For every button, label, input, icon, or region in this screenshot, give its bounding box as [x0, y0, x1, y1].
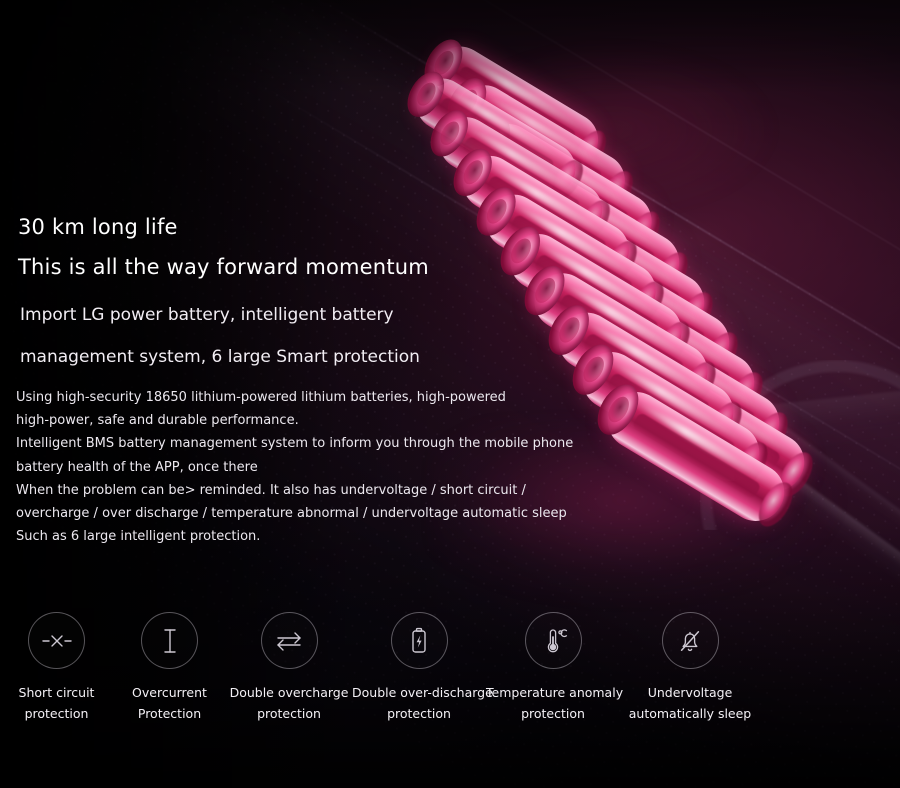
feature-label-line2: protection	[486, 703, 620, 724]
feature-label-line2: protection	[352, 703, 486, 724]
feature-short-circuit: Short circuit protection	[0, 612, 113, 724]
headline-secondary: This is all the way forward momentum	[18, 255, 429, 279]
body-line: high-power, safe and durable performance…	[16, 409, 573, 432]
current-ibeam-icon	[141, 612, 198, 669]
feature-label-line1: Short circuit	[0, 682, 113, 703]
feature-label-line2: Protection	[113, 703, 226, 724]
feature-temperature-anomaly: Temperature anomaly protection	[486, 612, 620, 724]
body-line: Using high-security 18650 lithium-powere…	[16, 386, 573, 409]
feature-double-over-discharge: Double over-discharge protection	[352, 612, 486, 724]
feature-undervoltage-sleep: Undervoltage automatically sleep	[620, 612, 760, 724]
body-line: Such as 6 large intelligent protection.	[16, 525, 573, 548]
body-line: When the problem can be> reminded. It al…	[16, 479, 573, 502]
subheadline: Import LG power battery, intelligent bat…	[20, 294, 420, 378]
feature-label-line1: Double overcharge	[226, 682, 352, 703]
body-line: battery health of the APP, once there	[16, 456, 573, 479]
bell-slash-icon	[662, 612, 719, 669]
body-copy: Using high-security 18650 lithium-powere…	[16, 386, 573, 548]
feature-double-overcharge: Double overcharge protection	[226, 612, 352, 724]
battery-bolt-icon	[391, 612, 448, 669]
headline-primary: 30 km long life	[18, 215, 178, 239]
bidirectional-arrows-icon	[261, 612, 318, 669]
feature-label-line2: protection	[226, 703, 352, 724]
feature-label-line1: Undervoltage	[620, 682, 760, 703]
body-line: overcharge / over discharge / temperatur…	[16, 502, 573, 525]
feature-label-line1: Overcurrent	[113, 682, 226, 703]
subheadline-line-2: management system, 6 large Smart protect…	[20, 336, 420, 378]
subheadline-line-1: Import LG power battery, intelligent bat…	[20, 294, 420, 336]
feature-overcurrent: Overcurrent Protection	[113, 612, 226, 724]
feature-label-line1: Double over-discharge	[352, 682, 486, 703]
product-feature-banner: 30 km long life This is all the way forw…	[0, 0, 900, 788]
protection-feature-row: Short circuit protection Overcurrent Pro…	[0, 612, 760, 724]
feature-label-line1: Temperature anomaly	[486, 682, 620, 703]
short-circuit-icon	[28, 612, 85, 669]
body-line: Intelligent BMS battery management syste…	[16, 432, 573, 455]
feature-label-line2: automatically sleep	[620, 703, 760, 724]
thermometer-celsius-icon	[525, 612, 582, 669]
feature-label-line2: protection	[0, 703, 113, 724]
